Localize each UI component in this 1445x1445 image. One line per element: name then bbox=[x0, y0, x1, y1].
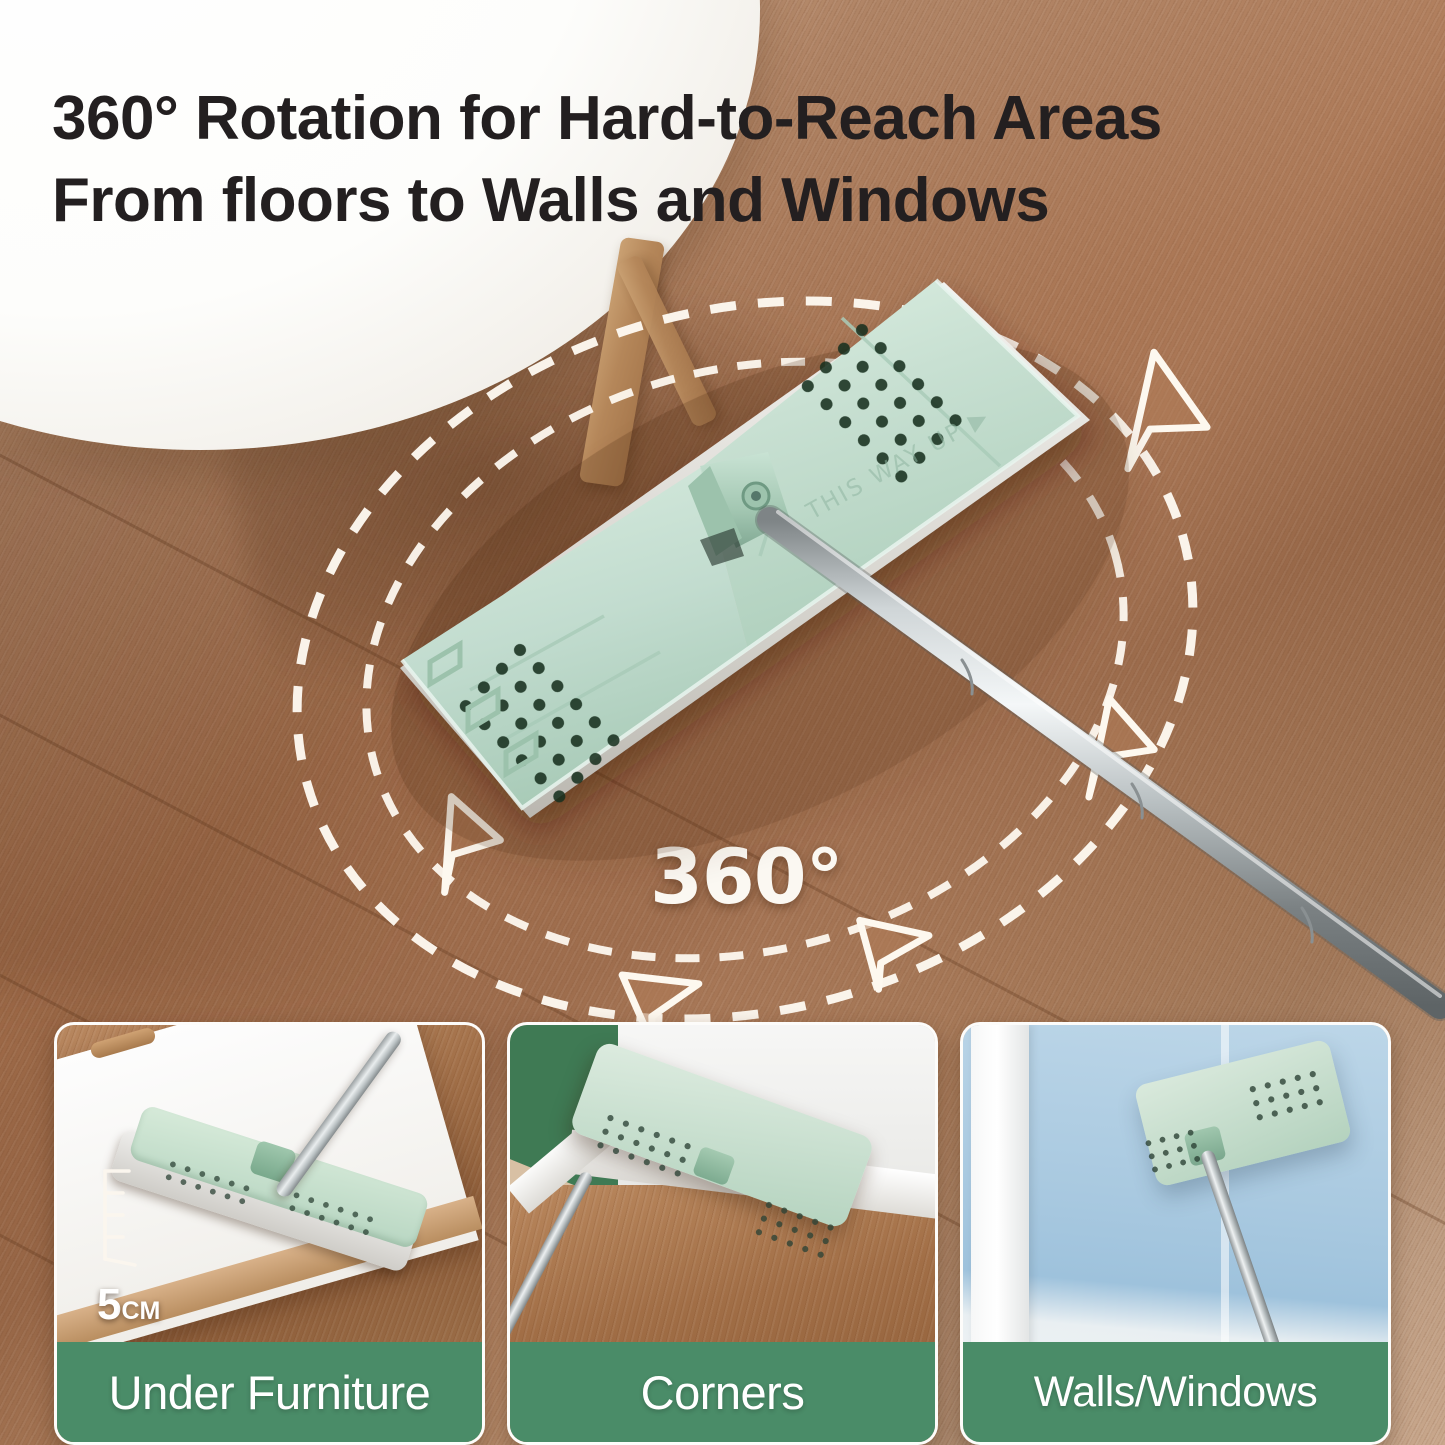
feature-panel-row: 5CM Under Furniture bbox=[0, 1022, 1445, 1445]
panel-caption-walls-windows: Walls/Windows bbox=[963, 1342, 1388, 1442]
clearance-measurement-label: 5CM bbox=[97, 1280, 160, 1330]
panel-caption-corners: Corners bbox=[510, 1342, 935, 1442]
clearance-value: 5 bbox=[97, 1280, 121, 1329]
clearance-unit: CM bbox=[121, 1297, 160, 1325]
headline-line-2: From floors to Walls and Windows bbox=[52, 160, 1412, 242]
panel-corners[interactable]: Corners bbox=[507, 1022, 938, 1445]
panel-walls-windows[interactable]: Walls/Windows bbox=[960, 1022, 1391, 1445]
headline-line-1: 360° Rotation for Hard-to-Reach Areas bbox=[52, 78, 1412, 160]
panel-caption-under-furniture: Under Furniture bbox=[57, 1342, 482, 1442]
clearance-ruler-icon bbox=[99, 1167, 143, 1267]
headline-block: 360° Rotation for Hard-to-Reach Areas Fr… bbox=[52, 78, 1412, 242]
panel-under-furniture[interactable]: 5CM Under Furniture bbox=[54, 1022, 485, 1445]
product-feature-image: 360° bbox=[0, 0, 1445, 1445]
